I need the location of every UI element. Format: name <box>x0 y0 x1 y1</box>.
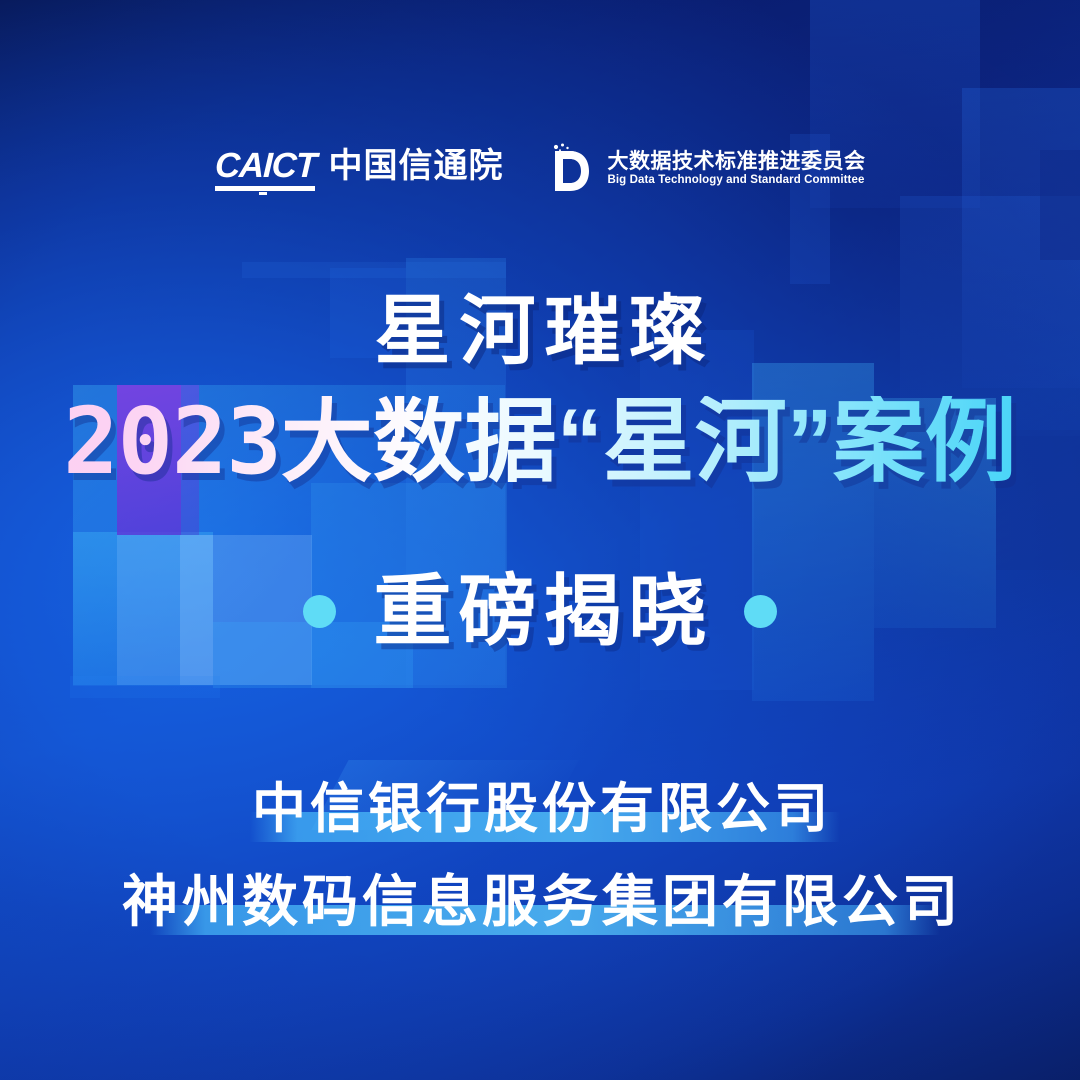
headline-line-1: 星河璀璨 <box>0 294 1080 370</box>
headline-line-3: 重磅揭晓 <box>366 572 713 650</box>
stylized-d-icon <box>547 142 593 196</box>
caict-wordmark-icon: CAICT <box>215 148 316 191</box>
big-data-committee-english-name: Big Data Technology and Standard Committ… <box>607 175 865 187</box>
caict-chinese-name: 中国信通院 <box>328 149 503 183</box>
headline-year: 2023 <box>63 388 281 495</box>
big-data-committee-chinese-name: 大数据技术标准推进委员会 <box>607 151 865 172</box>
winner-name-2: 神州数码信息服务集团有限公司 <box>0 874 1080 930</box>
headline-line-3-row: 重磅揭晓 <box>0 572 1080 650</box>
bg-block-top-sliver <box>242 262 506 278</box>
logo-row: CAICT 中国信通院 大数据技术标准推进委员会 Big Data Techno… <box>0 138 1080 200</box>
big-data-committee-logo: 大数据技术标准推进委员会 Big Data Technology and Sta… <box>547 142 865 196</box>
caict-logo: CAICT 中国信通院 <box>215 148 504 191</box>
headline-line-2-text: 大数据“星河”案例 <box>281 391 1017 493</box>
poster-canvas: CAICT 中国信通院 大数据技术标准推进委员会 Big Data Techno… <box>0 0 1080 1080</box>
caict-acronym: CAICT <box>214 148 316 183</box>
bullet-dot-left-icon <box>303 595 336 628</box>
caict-underline-icon <box>215 186 316 191</box>
bullet-dot-right-icon <box>744 595 777 628</box>
winner-name-1: 中信银行股份有限公司 <box>0 782 1080 836</box>
bg-block-left-tab <box>70 676 220 698</box>
big-data-committee-text: 大数据技术标准推进委员会 Big Data Technology and Sta… <box>607 151 865 187</box>
headline-line-2: 2023大数据“星河”案例 <box>0 396 1080 488</box>
